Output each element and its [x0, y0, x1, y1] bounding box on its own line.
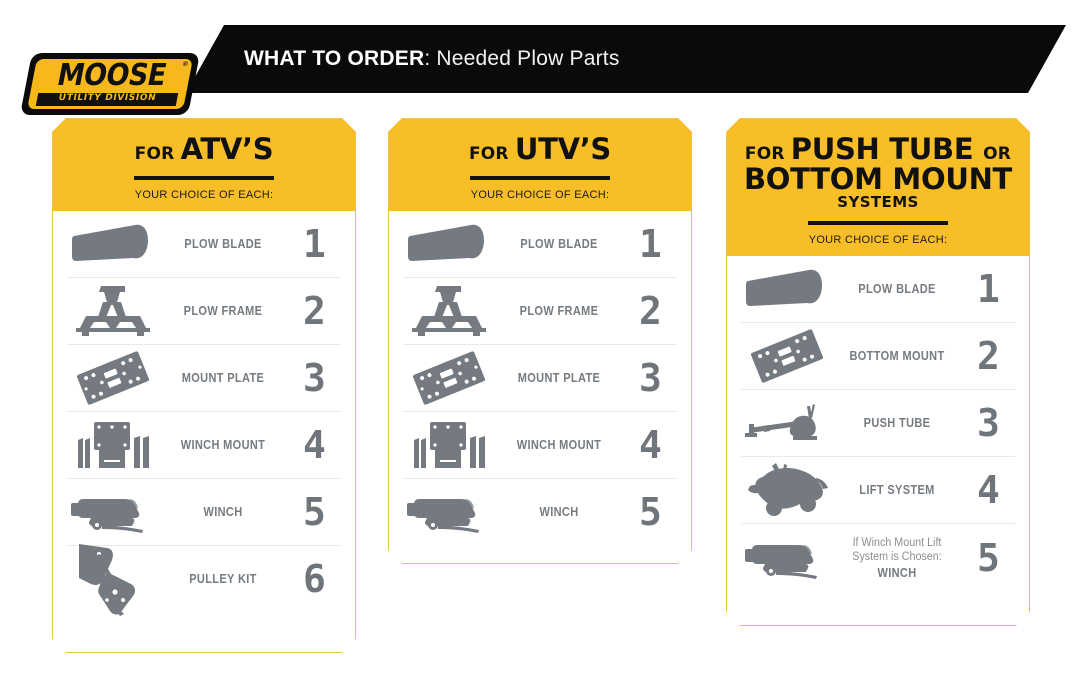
winch-icon	[67, 482, 159, 542]
part-label: PUSH TUBE	[841, 416, 954, 430]
winch-icon	[403, 482, 495, 542]
part-row: WINCH MOUNT4	[403, 412, 677, 479]
card-heading-line: FOR PUSH TUBE OR	[741, 135, 1015, 165]
card-subheading-atv: YOUR CHOICE OF EACH:	[67, 189, 341, 201]
page-header: WHAT TO ORDER: Needed Plow Parts ® MOOSE…	[0, 25, 1080, 93]
part-number: 5	[287, 493, 341, 531]
part-row: PUSH TUBE3	[741, 390, 1015, 457]
card-subheading-push: YOUR CHOICE OF EACH:	[741, 234, 1015, 246]
part-number: 6	[287, 560, 341, 598]
part-number: 1	[287, 225, 341, 263]
part-label: MOUNT PLATE	[503, 371, 616, 385]
part-number: 3	[623, 359, 677, 397]
card-subheading-utv: YOUR CHOICE OF EACH:	[403, 189, 677, 201]
mount-plate-icon	[67, 348, 159, 408]
card-heading-part: UTV’S	[515, 132, 611, 166]
pulley-kit-icon	[67, 549, 159, 609]
card-body-push: PLOW BLADE1 BOTTOM MOUNT2 PUSH TUBE3	[727, 256, 1029, 591]
part-row: PULLEY KIT6	[67, 546, 341, 613]
card-header-utv: FOR UTV’SYOUR CHOICE OF EACH:	[389, 119, 691, 211]
card-atv: FOR ATV’SYOUR CHOICE OF EACH: PLOW BLADE…	[52, 118, 356, 653]
part-label: PULLEY KIT	[167, 572, 280, 586]
part-number: 2	[961, 337, 1015, 375]
card-header-atv: FOR ATV’SYOUR CHOICE OF EACH:	[53, 119, 355, 211]
winch-mount-icon	[67, 415, 159, 475]
part-row: PLOW BLADE1	[403, 211, 677, 278]
page-title-light: : Needed Plow Parts	[424, 47, 619, 70]
part-row: PLOW FRAME2	[403, 278, 677, 345]
part-label: PLOW BLADE	[167, 237, 280, 251]
plow-frame-icon	[67, 281, 159, 341]
card-heading-line: FOR ATV’S	[67, 135, 341, 165]
push-tube-icon	[741, 393, 833, 453]
winch-mount-icon	[403, 415, 495, 475]
part-label: If Winch Mount Lift System is Chosen:WIN…	[841, 536, 954, 580]
part-label: BOTTOM MOUNT	[841, 349, 954, 363]
part-row: BOTTOM MOUNT2	[741, 323, 1015, 390]
bottom-mount-icon	[741, 326, 833, 386]
header-divider	[808, 221, 948, 225]
moose-logo: ® MOOSE UTILITY DIVISION	[20, 53, 200, 115]
part-label-text: WINCH	[877, 566, 916, 580]
part-label: MOUNT PLATE	[167, 371, 280, 385]
part-number: 3	[287, 359, 341, 397]
card-heading-atv: FOR ATV’S	[67, 135, 341, 165]
part-label: WINCH MOUNT	[167, 438, 280, 452]
part-number: 1	[961, 270, 1015, 308]
part-label: WINCH MOUNT	[503, 438, 616, 452]
part-row: MOUNT PLATE3	[67, 345, 341, 412]
card-heading-part: BOTTOM MOUNT	[744, 162, 1012, 196]
card-heading-part: FOR	[469, 144, 515, 164]
part-row: WINCH MOUNT4	[67, 412, 341, 479]
card-heading-push: FOR PUSH TUBE ORBOTTOM MOUNTSYSTEMS	[741, 135, 1015, 210]
part-number: 2	[623, 292, 677, 330]
header-band: WHAT TO ORDER: Needed Plow Parts	[186, 25, 1066, 93]
part-number: 5	[961, 539, 1015, 577]
card-heading-line: SYSTEMS	[741, 194, 1015, 210]
moose-logo-wordmark: MOOSE	[55, 61, 169, 91]
card-heading-part: ATV’S	[181, 132, 274, 166]
part-row: WINCH5	[403, 479, 677, 546]
card-heading-part: SYSTEMS	[837, 193, 918, 211]
page-title-strong: WHAT TO ORDER	[244, 47, 424, 70]
part-number: 4	[623, 426, 677, 464]
header-divider	[134, 176, 274, 180]
header-divider	[470, 176, 610, 180]
part-label: LIFT SYSTEM	[841, 483, 954, 497]
part-label: WINCH	[167, 505, 280, 519]
card-body-utv: PLOW BLADE1 PLOW FRAME2 MOUNT PLATE3	[389, 211, 691, 546]
part-label: PLOW BLADE	[841, 282, 954, 296]
moose-logo-badge: ® MOOSE UTILITY DIVISION	[27, 59, 193, 109]
moose-logo-subtitle: UTILITY DIVISION	[36, 93, 178, 105]
part-row: WINCH5	[67, 479, 341, 546]
part-row: MOUNT PLATE3	[403, 345, 677, 412]
part-number: 4	[961, 471, 1015, 509]
part-row: PLOW BLADE1	[741, 256, 1015, 323]
card-heading-utv: FOR UTV’S	[403, 135, 677, 165]
winch-icon	[741, 528, 833, 588]
card-heading-line: BOTTOM MOUNT	[741, 165, 1015, 195]
card-heading-part: FOR	[135, 144, 181, 164]
card-push-tube-bottom-mount: FOR PUSH TUBE ORBOTTOM MOUNTSYSTEMSYOUR …	[726, 118, 1030, 626]
part-number: 3	[961, 404, 1015, 442]
card-utv: FOR UTV’SYOUR CHOICE OF EACH: PLOW BLADE…	[388, 118, 692, 564]
part-row: LIFT SYSTEM4	[741, 457, 1015, 524]
lift-system-icon	[741, 460, 833, 520]
part-row: PLOW BLADE1	[67, 211, 341, 278]
part-label: WINCH	[503, 505, 616, 519]
plow-frame-icon	[403, 281, 495, 341]
plow-blade-icon	[403, 214, 495, 274]
part-number: 1	[623, 225, 677, 263]
card-body-atv: PLOW BLADE1 PLOW FRAME2 MOUNT PLATE3	[53, 211, 355, 613]
plow-blade-icon	[741, 259, 833, 319]
plow-blade-icon	[67, 214, 159, 274]
page-title: WHAT TO ORDER: Needed Plow Parts	[244, 47, 620, 71]
part-label: PLOW FRAME	[167, 304, 280, 318]
part-number: 5	[623, 493, 677, 531]
part-row: If Winch Mount Lift System is Chosen:WIN…	[741, 524, 1015, 591]
infographic-page: WHAT TO ORDER: Needed Plow Parts ® MOOSE…	[0, 0, 1080, 691]
part-label: PLOW BLADE	[503, 237, 616, 251]
card-heading-line: FOR UTV’S	[403, 135, 677, 165]
mount-plate-icon	[403, 348, 495, 408]
card-header-push: FOR PUSH TUBE ORBOTTOM MOUNTSYSTEMSYOUR …	[727, 119, 1029, 256]
part-note: If Winch Mount Lift System is Chosen:	[837, 536, 956, 564]
part-number: 2	[287, 292, 341, 330]
part-number: 4	[287, 426, 341, 464]
part-row: PLOW FRAME2	[67, 278, 341, 345]
registered-trademark-icon: ®	[182, 61, 189, 68]
part-label: PLOW FRAME	[503, 304, 616, 318]
